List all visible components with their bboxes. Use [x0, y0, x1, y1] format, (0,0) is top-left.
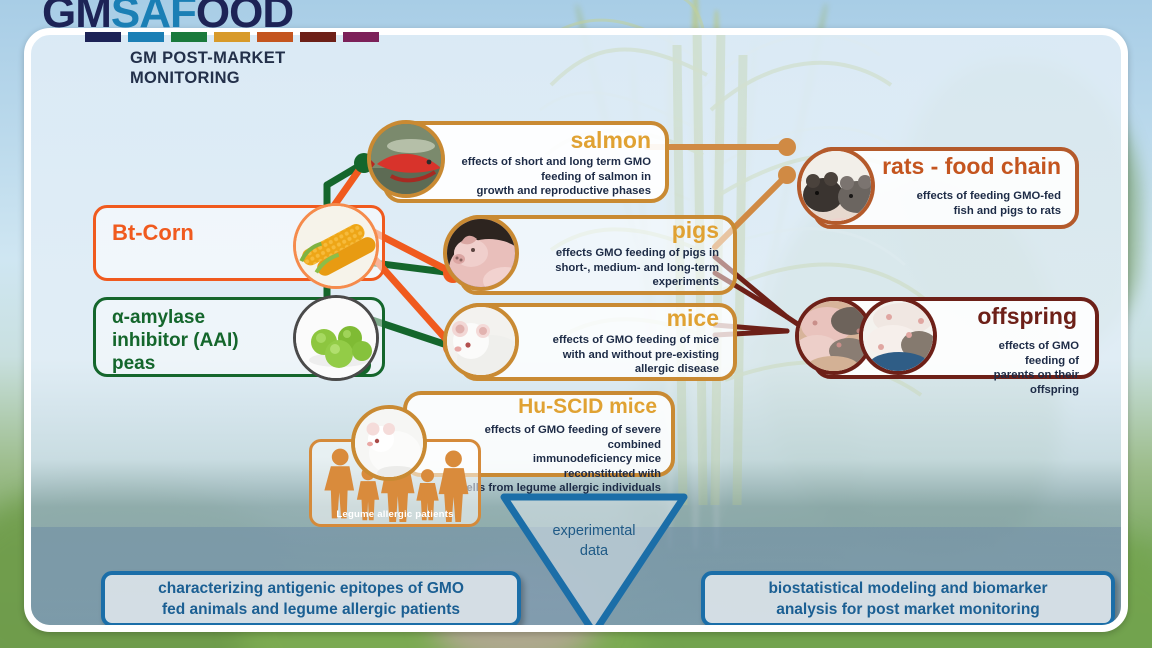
- output-box-epitopes[interactable]: characterizing antigenic epitopes of GMO…: [101, 571, 521, 627]
- salmon-desc-line-1: effects of short and long term GMO: [447, 155, 651, 170]
- rats-title: rats - food chain: [882, 153, 1061, 180]
- page-subtitle: GM POST-MARKET MONITORING: [130, 48, 285, 88]
- hu-scid-title: Hu-SCID mice: [518, 395, 657, 419]
- output-biostatistics-line-1: biostatistical modeling and biomarker: [768, 578, 1047, 599]
- output-biostatistics-text: biostatistical modeling and biomarker an…: [768, 578, 1047, 620]
- logo-color-bar-6: [300, 32, 336, 42]
- legume-allergic-patients-label: Legume allergic patients: [312, 509, 478, 520]
- mouse-photo: [443, 303, 519, 379]
- logo-color-bar-5: [257, 32, 293, 42]
- hu-scid-desc: effects of GMO feeding of severe combine…: [459, 423, 661, 496]
- output-epitopes-line-1: characterizing antigenic epitopes of GMO: [158, 578, 464, 599]
- offspring-desc: effects of GMO feeding of parents on the…: [967, 339, 1079, 397]
- offspring-desc-line-2: parents on their offspring: [967, 368, 1079, 397]
- rats-desc-line-2: fish and pigs to rats: [887, 204, 1061, 219]
- pig-photo: [443, 215, 519, 291]
- experimental-data-triangle: experimental data: [499, 491, 689, 632]
- mice-desc-line-3: allergic disease: [525, 362, 719, 377]
- gmsafood-logo: GMSAFOOD: [42, 0, 293, 36]
- bt-corn-title: Bt-Corn: [112, 220, 194, 246]
- salmon-desc: effects of short and long term GMO feedi…: [447, 155, 651, 199]
- output-box-biostatistics[interactable]: biostatistical modeling and biomarker an…: [701, 571, 1115, 627]
- white-mouse-photo: [351, 405, 427, 481]
- hu-scid-desc-line-1: effects of GMO feeding of severe combine…: [459, 423, 661, 452]
- pigs-desc: effects GMO feeding of pigs in short-, m…: [525, 246, 719, 290]
- logo-color-bar-7: [343, 32, 379, 42]
- mice-title: mice: [667, 305, 719, 332]
- logo-color-bar-2: [128, 32, 164, 42]
- main-panel: Bt-Corn α-amylase inhibitor (AAI) peas: [24, 28, 1128, 632]
- logo-color-bar-4: [214, 32, 250, 42]
- logo-color-bar-1: [85, 32, 121, 42]
- pigs-desc-line-2: short-, medium- and long-term: [525, 261, 719, 276]
- salmon-title: salmon: [570, 127, 651, 154]
- subtitle-line-2: MONITORING: [130, 68, 285, 88]
- aai-peas-title-line3: peas: [112, 352, 155, 375]
- triangle-label-line-2: data: [499, 541, 689, 561]
- rats-desc-line-1: effects of feeding GMO-fed: [887, 189, 1061, 204]
- offspring-desc-line-1: effects of GMO feeding of: [967, 339, 1079, 368]
- salmon-photo: [367, 120, 445, 198]
- corn-photo: [293, 203, 379, 289]
- mice-desc: effects of GMO feeding of mice with and …: [525, 333, 719, 377]
- logo-color-bars: [85, 32, 379, 42]
- offspring-photo-right: [859, 297, 937, 375]
- triangle-label: experimental data: [499, 521, 689, 561]
- rats-photo: [797, 147, 875, 225]
- aai-peas-title-line2: inhibitor (AAI): [112, 329, 239, 352]
- triangle-label-line-1: experimental: [499, 521, 689, 541]
- mice-desc-line-2: with and without pre-existing: [525, 348, 719, 363]
- salmon-desc-line-3: growth and reproductive phases: [447, 184, 651, 199]
- offspring-title: offspring: [977, 303, 1077, 330]
- pigs-desc-line-1: effects GMO feeding of pigs in: [525, 246, 719, 261]
- output-epitopes-line-2: fed animals and legume allergic patients: [158, 599, 464, 620]
- pigs-title: pigs: [672, 217, 719, 244]
- subtitle-line-1: GM POST-MARKET: [130, 48, 285, 68]
- hu-scid-desc-line-2: immunodeficiency mice reconstituted with: [459, 452, 661, 481]
- mice-desc-line-1: effects of GMO feeding of mice: [525, 333, 719, 348]
- peas-photo: [293, 295, 379, 381]
- output-epitopes-text: characterizing antigenic epitopes of GMO…: [158, 578, 464, 620]
- salmon-desc-line-2: feeding of salmon in: [447, 170, 651, 185]
- logo-color-bar-3: [171, 32, 207, 42]
- rats-desc: effects of feeding GMO-fed fish and pigs…: [887, 189, 1061, 218]
- output-biostatistics-line-2: analysis for post market monitoring: [768, 599, 1047, 620]
- aai-peas-title-line1: α-amylase: [112, 306, 205, 329]
- pigs-desc-line-3: experiments: [525, 275, 719, 290]
